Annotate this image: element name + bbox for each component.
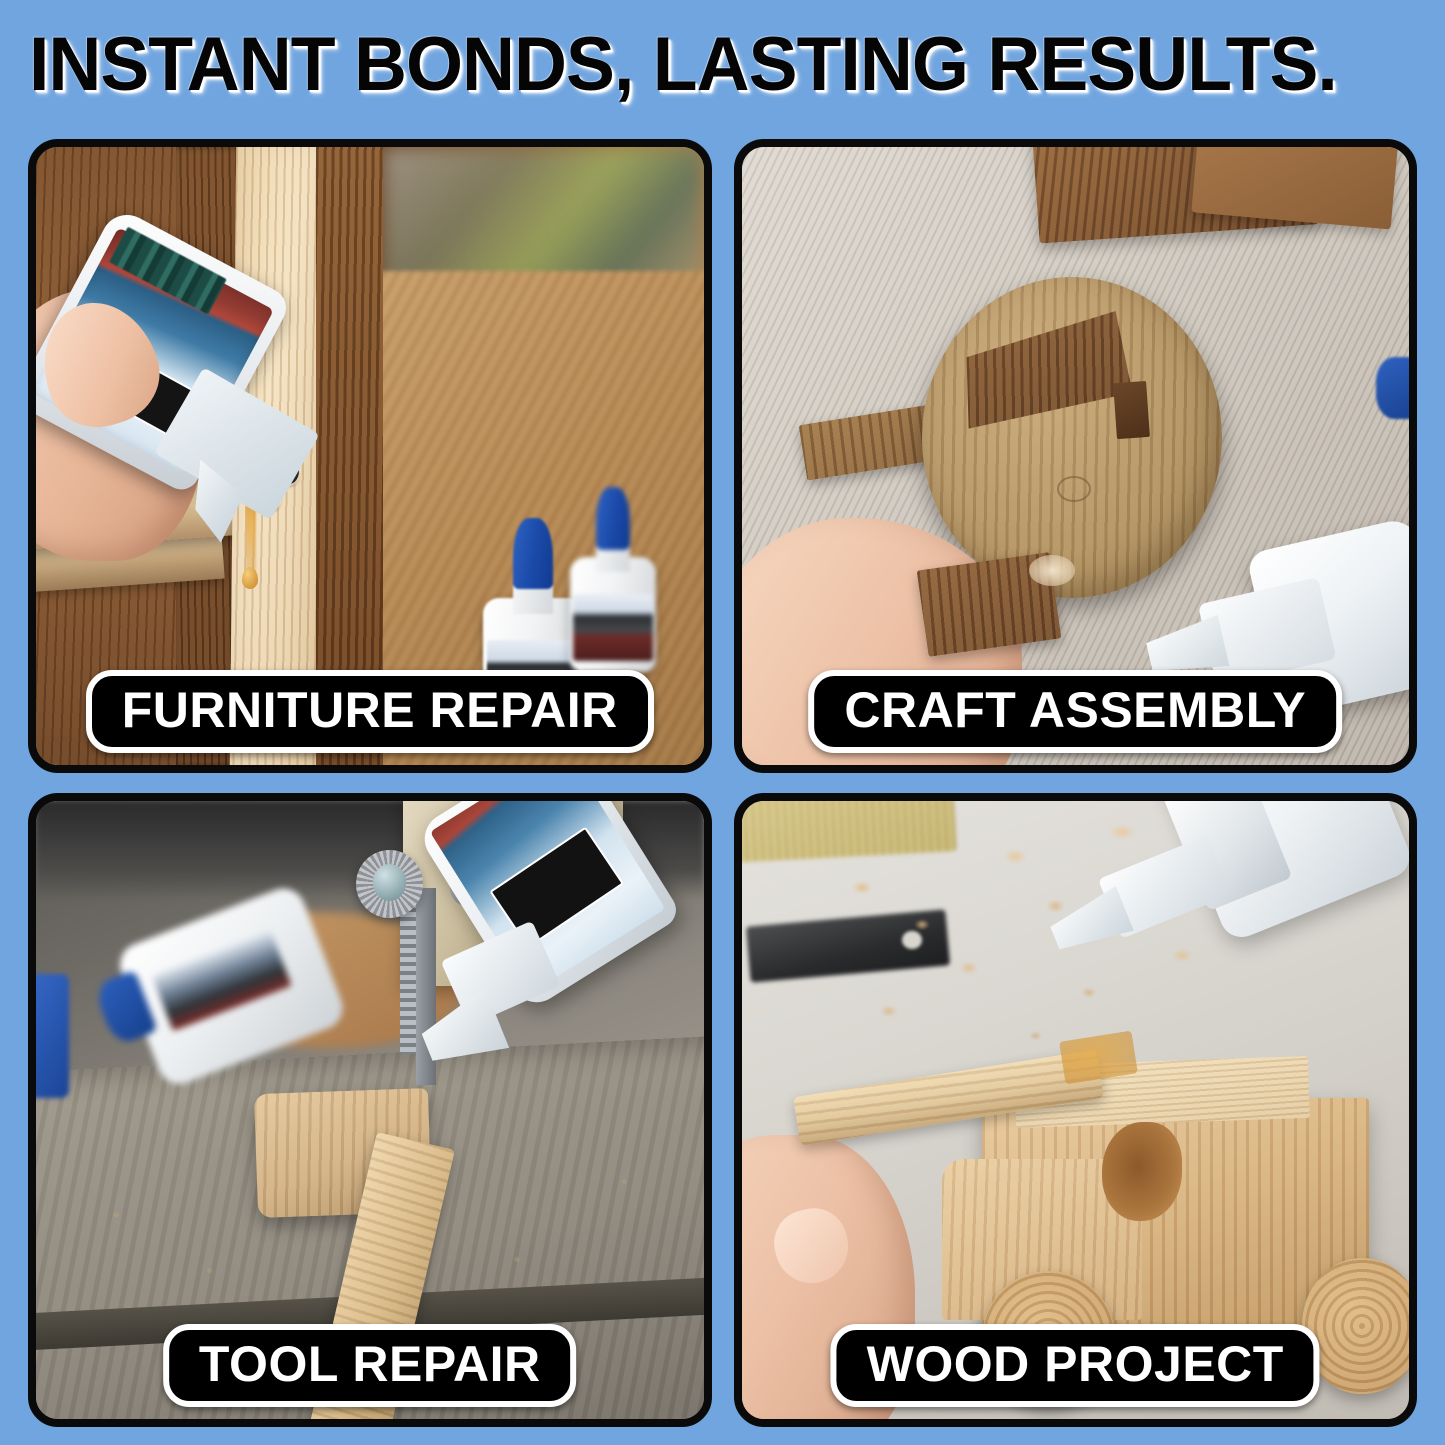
badge-label: TOOL REPAIR [199, 1337, 541, 1391]
glue-drop [242, 567, 258, 589]
badge-label: FURNITURE REPAIR [122, 683, 618, 737]
badge-tool-repair: TOOL REPAIR [163, 1324, 577, 1407]
panel-tool-repair[interactable]: TOOL REPAIR [28, 793, 712, 1427]
bottle-cap [596, 487, 630, 550]
wood-knot [1102, 1122, 1182, 1221]
use-case-grid: FURNITURE REPAIR [28, 139, 1417, 1427]
disc-marking [1057, 476, 1091, 502]
headline-bar: INSTANT BONDS, LASTING RESULTS. [0, 0, 1445, 130]
badge-furniture-repair: FURNITURE REPAIR [86, 670, 654, 753]
blue-cap [36, 974, 69, 1098]
panel-furniture-repair[interactable]: FURNITURE REPAIR [28, 139, 712, 773]
cyafixed-bottle [570, 487, 656, 672]
page-title: INSTANT BONDS, LASTING RESULTS. [0, 27, 1337, 103]
badge-label: WOOD PROJECT [867, 1337, 1284, 1391]
mortise-slot [1113, 381, 1150, 439]
badge-craft-assembly: CRAFT ASSEMBLY [808, 670, 1342, 753]
blue-pen-tip [1376, 357, 1409, 419]
panel-craft-assembly[interactable]: CRAFT ASSEMBLY [734, 139, 1418, 773]
bottle-label [573, 594, 652, 661]
nozzle-tip [1045, 886, 1134, 959]
glue-application-point [1029, 555, 1076, 586]
badge-wood-project: WOOD PROJECT [831, 1324, 1320, 1407]
panel-wood-project[interactable]: WOOD PROJECT [734, 793, 1418, 1427]
product-feature-poster: INSTANT BONDS, LASTING RESULTS. [0, 0, 1445, 1445]
bottle-cap [513, 518, 553, 589]
badge-label: CRAFT ASSEMBLY [844, 683, 1306, 737]
